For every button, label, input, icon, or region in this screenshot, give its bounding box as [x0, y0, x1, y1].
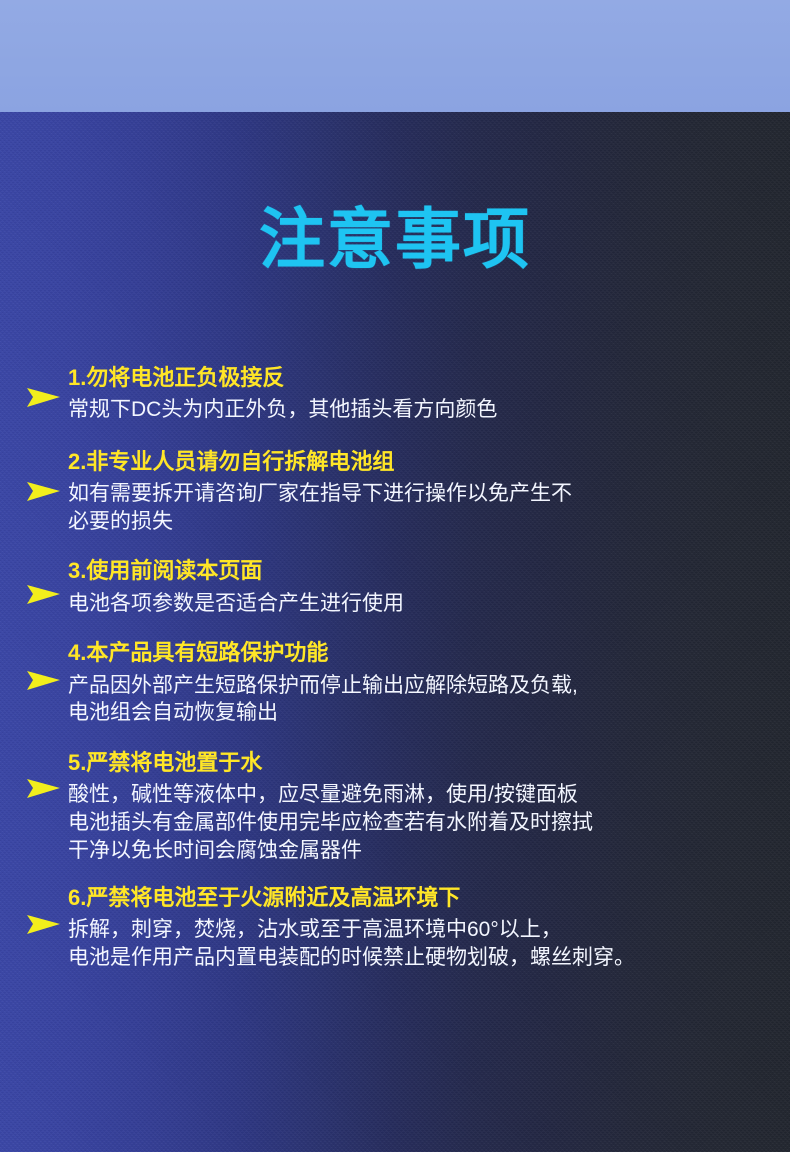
arrow-right-icon: [24, 382, 64, 412]
notice-item: 6.严禁将电池至于火源附近及高温环境下 拆解，刺穿，焚烧，沾水或至于高温环境中6…: [0, 884, 790, 972]
notice-heading: 5.严禁将电池置于水: [68, 749, 778, 777]
notice-item: 4.本产品具有短路保护功能 产品因外部产生短路保护而停止输出应解除短路及负载, …: [0, 639, 790, 727]
arrow-right-icon: [24, 579, 64, 609]
notice-item: 1.勿将电池正负极接反 常规下DC头为内正外负，其他插头看方向颜色: [0, 364, 790, 424]
notice-page: 注意事项 1.勿将电池正负极接反 常规下DC头为内正外负，其他插头看方向颜色 2…: [0, 0, 790, 1152]
notice-body: 如有需要拆开请咨询厂家在指导下进行操作以免产生不 必要的损失: [68, 480, 778, 535]
notice-heading: 4.本产品具有短路保护功能: [68, 639, 778, 667]
notice-body: 常规下DC头为内正外负，其他插头看方向颜色: [68, 396, 778, 424]
notice-heading: 2.非专业人员请勿自行拆解电池组: [68, 448, 778, 476]
notice-body: 酸性，碱性等液体中，应尽量避免雨淋，使用/按键面板 电池插头有金属部件使用完毕应…: [68, 781, 778, 864]
arrow-right-icon: [24, 665, 64, 695]
notice-item: 5.严禁将电池置于水 酸性，碱性等液体中，应尽量避免雨淋，使用/按键面板 电池插…: [0, 749, 790, 864]
top-band: [0, 0, 790, 112]
notice-list: 1.勿将电池正负极接反 常规下DC头为内正外负，其他插头看方向颜色 2.非专业人…: [0, 364, 790, 972]
page-title: 注意事项: [0, 206, 790, 272]
notice-body: 拆解，刺穿，焚烧，沾水或至于高温环境中60°以上， 电池是作用产品内置电装配的时…: [68, 916, 778, 971]
arrow-right-icon: [24, 909, 64, 939]
notice-heading: 6.严禁将电池至于火源附近及高温环境下: [68, 884, 778, 912]
notice-heading: 1.勿将电池正负极接反: [68, 364, 778, 392]
arrow-right-icon: [24, 773, 64, 803]
arrow-right-icon: [24, 476, 64, 506]
notice-heading: 3.使用前阅读本页面: [68, 557, 778, 585]
notice-body: 产品因外部产生短路保护而停止输出应解除短路及负载, 电池组会自动恢复输出: [68, 672, 778, 727]
notice-item: 3.使用前阅读本页面 电池各项参数是否适合产生进行使用: [0, 557, 790, 617]
notice-item: 2.非专业人员请勿自行拆解电池组 如有需要拆开请咨询厂家在指导下进行操作以免产生…: [0, 448, 790, 536]
notice-body: 电池各项参数是否适合产生进行使用: [68, 590, 778, 618]
